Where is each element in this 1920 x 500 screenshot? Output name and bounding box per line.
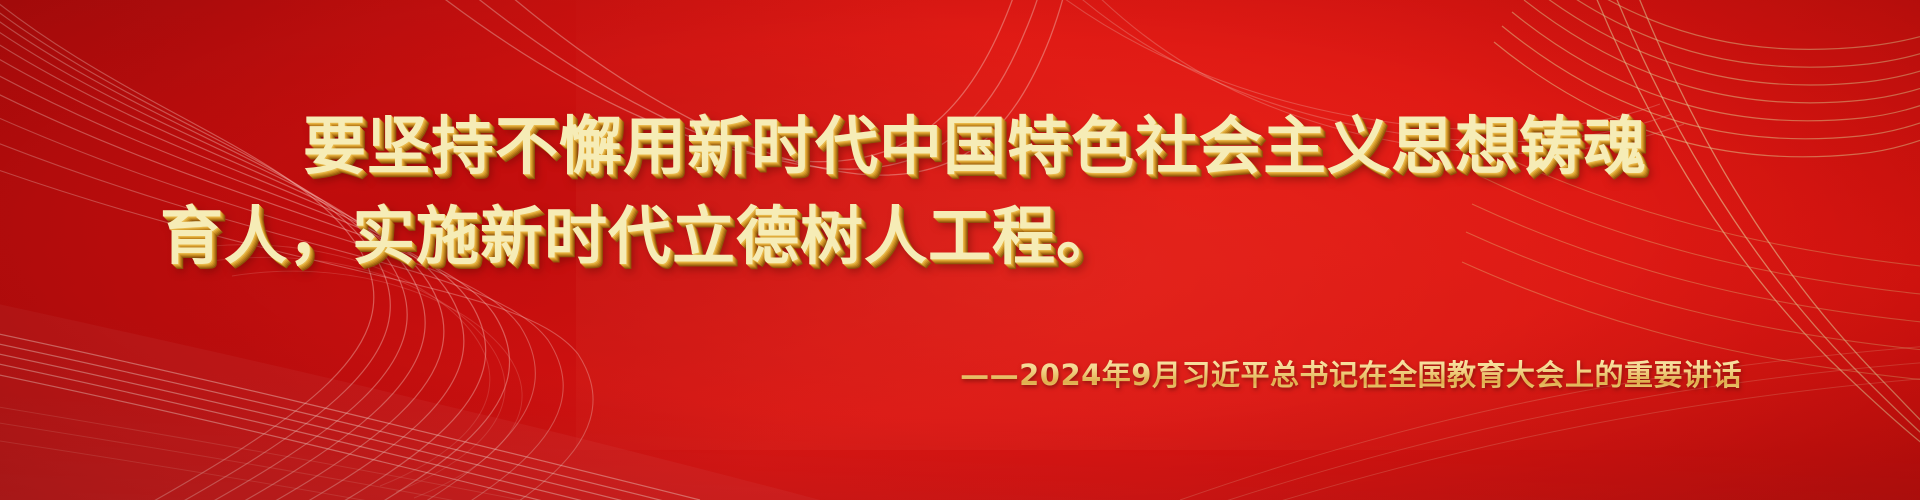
banner-content: 要坚持不懈用新时代中国特色社会主义思想铸魂 育人，实施新时代立德树人工程。 ——… bbox=[0, 0, 1920, 500]
headline-line-1: 要坚持不懈用新时代中国特色社会主义思想铸魂 bbox=[0, 106, 1920, 188]
banner-root: 要坚持不懈用新时代中国特色社会主义思想铸魂 育人，实施新时代立德树人工程。 ——… bbox=[0, 0, 1920, 500]
attribution-source: ——2024年9月习近平总书记在全国教育大会上的重要讲话 bbox=[960, 352, 1742, 394]
headline-line-2: 育人，实施新时代立德树人工程。 bbox=[0, 196, 1920, 278]
headline: 要坚持不懈用新时代中国特色社会主义思想铸魂 育人，实施新时代立德树人工程。 bbox=[0, 106, 1920, 278]
